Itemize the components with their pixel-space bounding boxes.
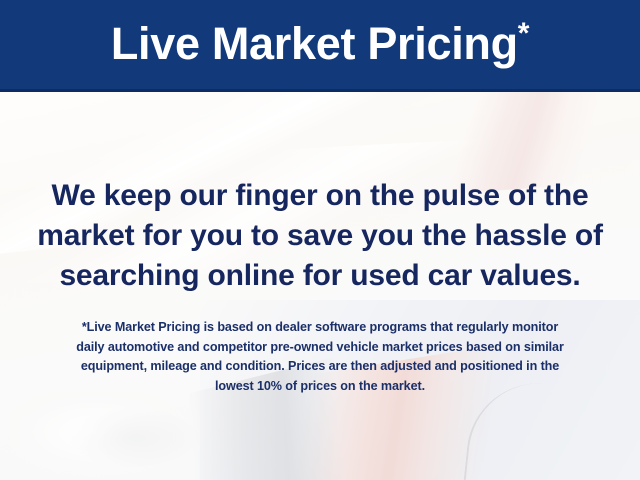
disclaimer-line-4: lowest 10% of prices on the market. (24, 377, 616, 397)
headline-line-1: We keep our finger on the pulse of the (22, 176, 618, 216)
headline-line-3: searching online for used car values. (22, 256, 618, 296)
headline: We keep our finger on the pulse of the m… (22, 176, 618, 296)
disclaimer-line-1: *Live Market Pricing is based on dealer … (24, 318, 616, 338)
headline-line-2: market for you to save you the hassle of (22, 216, 618, 256)
disclaimer-line-3: equipment, mileage and condition. Prices… (24, 357, 616, 377)
page-title: Live Market Pricing* (111, 21, 529, 68)
disclaimer: *Live Market Pricing is based on dealer … (24, 318, 616, 396)
live-market-pricing-ad: Live Market Pricing* We keep our finger … (0, 0, 640, 480)
disclaimer-line-2: daily automotive and competitor pre-owne… (24, 338, 616, 358)
title-banner: Live Market Pricing* (0, 0, 640, 92)
page-title-text: Live Market Pricing (111, 18, 518, 69)
page-title-asterisk: * (518, 17, 529, 50)
